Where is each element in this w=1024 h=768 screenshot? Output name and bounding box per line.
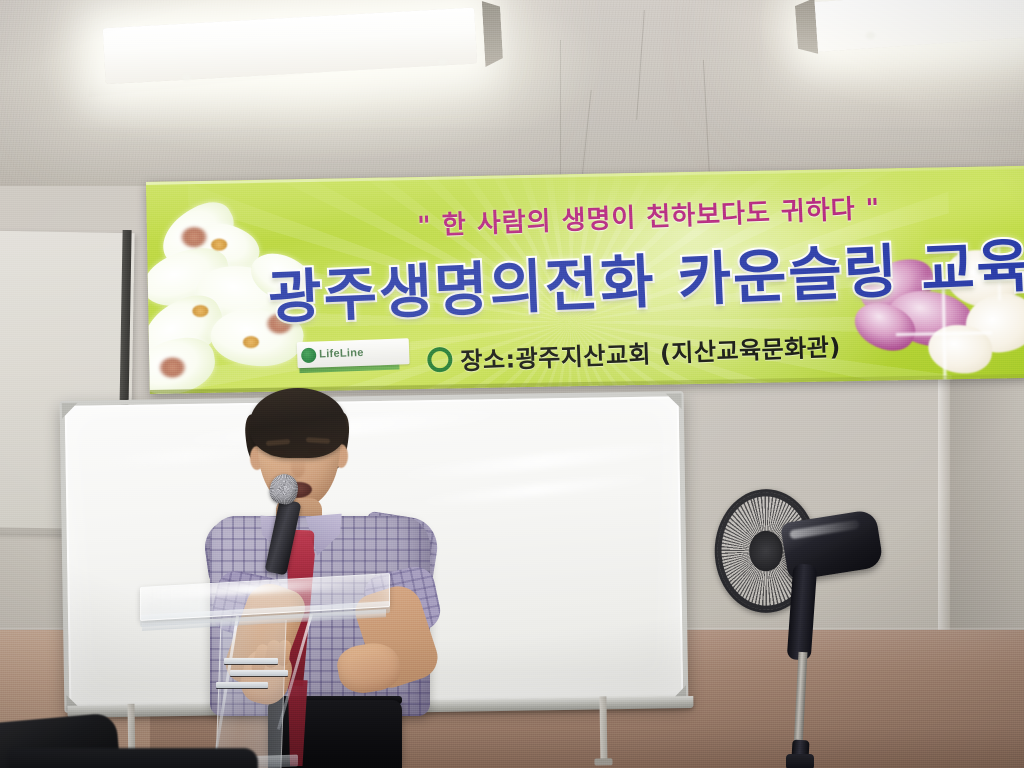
pedestal-fan[interactable]	[712, 486, 892, 768]
fan-pole	[793, 652, 807, 748]
light-endcap	[794, 0, 818, 55]
light-reflection-dot	[182, 74, 191, 81]
fan-motor-highlight	[789, 520, 860, 540]
lectern-stripe	[224, 658, 278, 664]
lifeline-logo: LifeLine	[297, 338, 410, 368]
photo-scene: " 한 사람의 생명이 천하보다도 귀하다 " 광주생명의전화 카운슬링 교육 …	[0, 0, 1024, 768]
fan-base	[786, 754, 814, 768]
whiteboard-leg	[599, 696, 607, 764]
eye	[309, 448, 325, 454]
whiteboard-corner	[62, 403, 78, 419]
ceiling-seam	[560, 40, 561, 180]
eye	[269, 450, 285, 456]
acrylic-lectern	[140, 580, 400, 768]
circle-bullet-icon	[427, 346, 453, 372]
fluorescent-tube	[809, 0, 1024, 52]
lectern-stripe	[230, 670, 288, 676]
lifeline-mark-icon	[301, 347, 317, 363]
lifeline-logo-text: LifeLine	[319, 347, 364, 361]
fluorescent-tube	[103, 7, 478, 84]
light-reflection-dot	[438, 58, 447, 65]
whiteboard-foot	[594, 758, 612, 765]
lectern-stripe	[216, 682, 268, 688]
light-endcap	[482, 0, 504, 67]
event-banner: " 한 사람의 생명이 천하보다도 귀하다 " 광주생명의전화 카운슬링 교육 …	[146, 166, 1024, 394]
nose	[291, 456, 305, 478]
hair	[250, 388, 346, 458]
light-reflection-dot	[866, 32, 875, 39]
whiteboard-corner	[666, 393, 682, 409]
chair-seat[interactable]	[8, 748, 258, 768]
whiteboard-glare	[416, 472, 656, 508]
